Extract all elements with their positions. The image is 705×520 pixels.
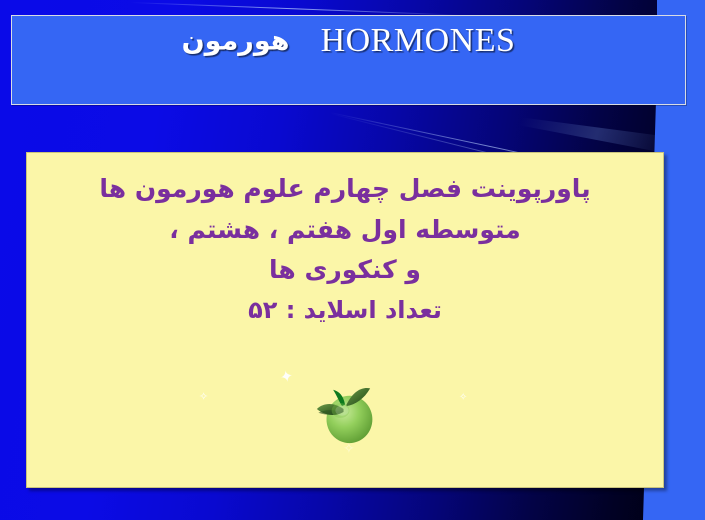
sparkle-icon: ✦: [278, 368, 294, 386]
content-line-2: متوسطه اول هفتم ، هشتم ،: [53, 210, 637, 251]
presentation-slide: هورمون HORMONES پاورپوینت فصل چهارم علوم…: [0, 0, 705, 520]
diagonal-accent-line-top: [130, 2, 460, 16]
content-line-1: پاورپوینت فصل چهارم علوم هورمون ها: [53, 169, 637, 210]
slide-title-persian: هورمون: [182, 26, 290, 57]
sparkle-icon: ✧: [199, 391, 208, 402]
slide-content-box: پاورپوینت فصل چهارم علوم هورمون ها متوسط…: [26, 152, 664, 488]
content-line-3: و کنکوری ها: [53, 250, 637, 291]
slide-title: هورمون HORMONES: [12, 22, 685, 60]
content-line-slide-count: تعداد اسلاید : ۵۲: [53, 291, 637, 330]
slide-title-english: HORMONES: [321, 22, 516, 59]
content-text-block: پاورپوینت فصل چهارم علوم هورمون ها متوسط…: [27, 153, 663, 329]
diagonal-accent-wedge: [420, 104, 670, 154]
slide-title-box: هورمون HORMONES: [11, 15, 686, 105]
green-apple-icon: [308, 375, 382, 449]
sparkle-icon: ✧: [459, 393, 467, 403]
